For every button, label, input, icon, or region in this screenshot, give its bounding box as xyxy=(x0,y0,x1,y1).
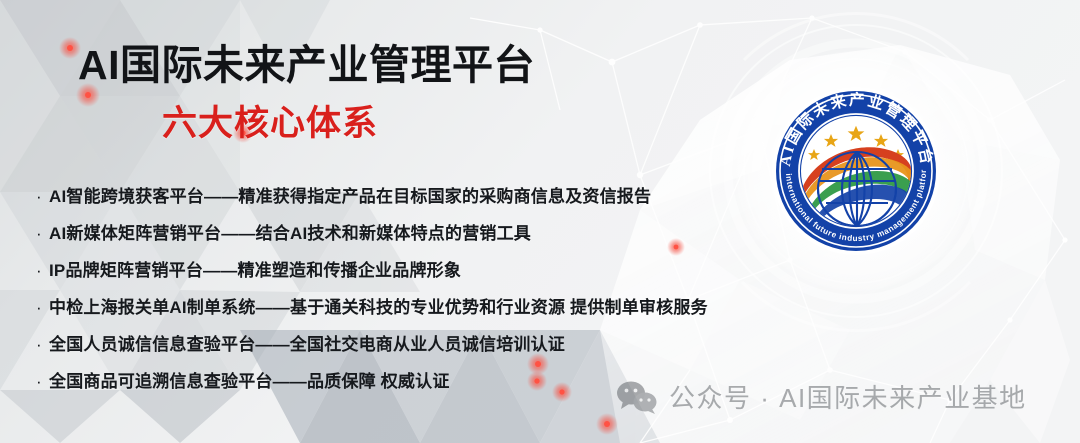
list-item: · 中检上海报关单AI制单系统——基于通关科技的专业优势和行业资源 提供制单审核… xyxy=(36,293,736,330)
bullet-marker-icon: · xyxy=(36,262,49,279)
feature-list: · AI智能跨境获客平台——精准获得指定产品在目标国家的采购商信息及资信报告 ·… xyxy=(36,182,736,404)
bullet-marker-icon: · xyxy=(36,225,49,242)
bullet-marker-icon: · xyxy=(36,188,49,205)
page-title: AI国际未来产业管理平台 xyxy=(78,43,535,89)
poster-banner: AI国际未来产业管理平台 AI international future ind… xyxy=(0,0,1080,443)
circular-seal-emblem-svg: AI国际未来产业管理平台 AI international future ind… xyxy=(770,85,942,257)
list-item: · AI新媒体矩阵营销平台——结合AI技术和新媒体特点的营销工具 xyxy=(36,219,736,256)
page-subtitle: 六大核心体系 xyxy=(162,104,378,143)
watermark-label: 公众号 · AI国际未来产业基地 xyxy=(669,378,1027,415)
list-item-label: 全国人员诚信信息查验平台——全国社交电商从业人员诚信培训认证 xyxy=(49,330,565,355)
list-item-label: 中检上海报关单AI制单系统——基于通关科技的专业优势和行业资源 提供制单审核服务 xyxy=(49,293,708,318)
bullet-marker-icon: · xyxy=(36,299,49,316)
list-item-label: AI智能跨境获客平台——精准获得指定产品在目标国家的采购商信息及资信报告 xyxy=(49,182,651,207)
list-item: · IP品牌矩阵营销平台——精准塑造和传播企业品牌形象 xyxy=(36,256,736,293)
platform-emblem: AI国际未来产业管理平台 AI international future ind… xyxy=(770,85,942,257)
list-item-label: AI新媒体矩阵营销平台——结合AI技术和新媒体特点的营销工具 xyxy=(49,219,531,244)
list-item-label: IP品牌矩阵营销平台——精准塑造和传播企业品牌形象 xyxy=(49,256,461,281)
list-item: · AI智能跨境获客平台——精准获得指定产品在目标国家的采购商信息及资信报告 xyxy=(36,182,736,219)
list-item-label: 全国商品可追溯信息查验平台——品质保障 权威认证 xyxy=(49,367,450,392)
bullet-marker-icon: · xyxy=(36,336,49,353)
bullet-marker-icon: · xyxy=(36,373,49,390)
watermark: 公众号 · AI国际未来产业基地 xyxy=(616,378,1027,415)
wechat-bubbles-icon xyxy=(616,380,658,414)
list-item: · 全国人员诚信信息查验平台——全国社交电商从业人员诚信培训认证 xyxy=(36,330,736,367)
